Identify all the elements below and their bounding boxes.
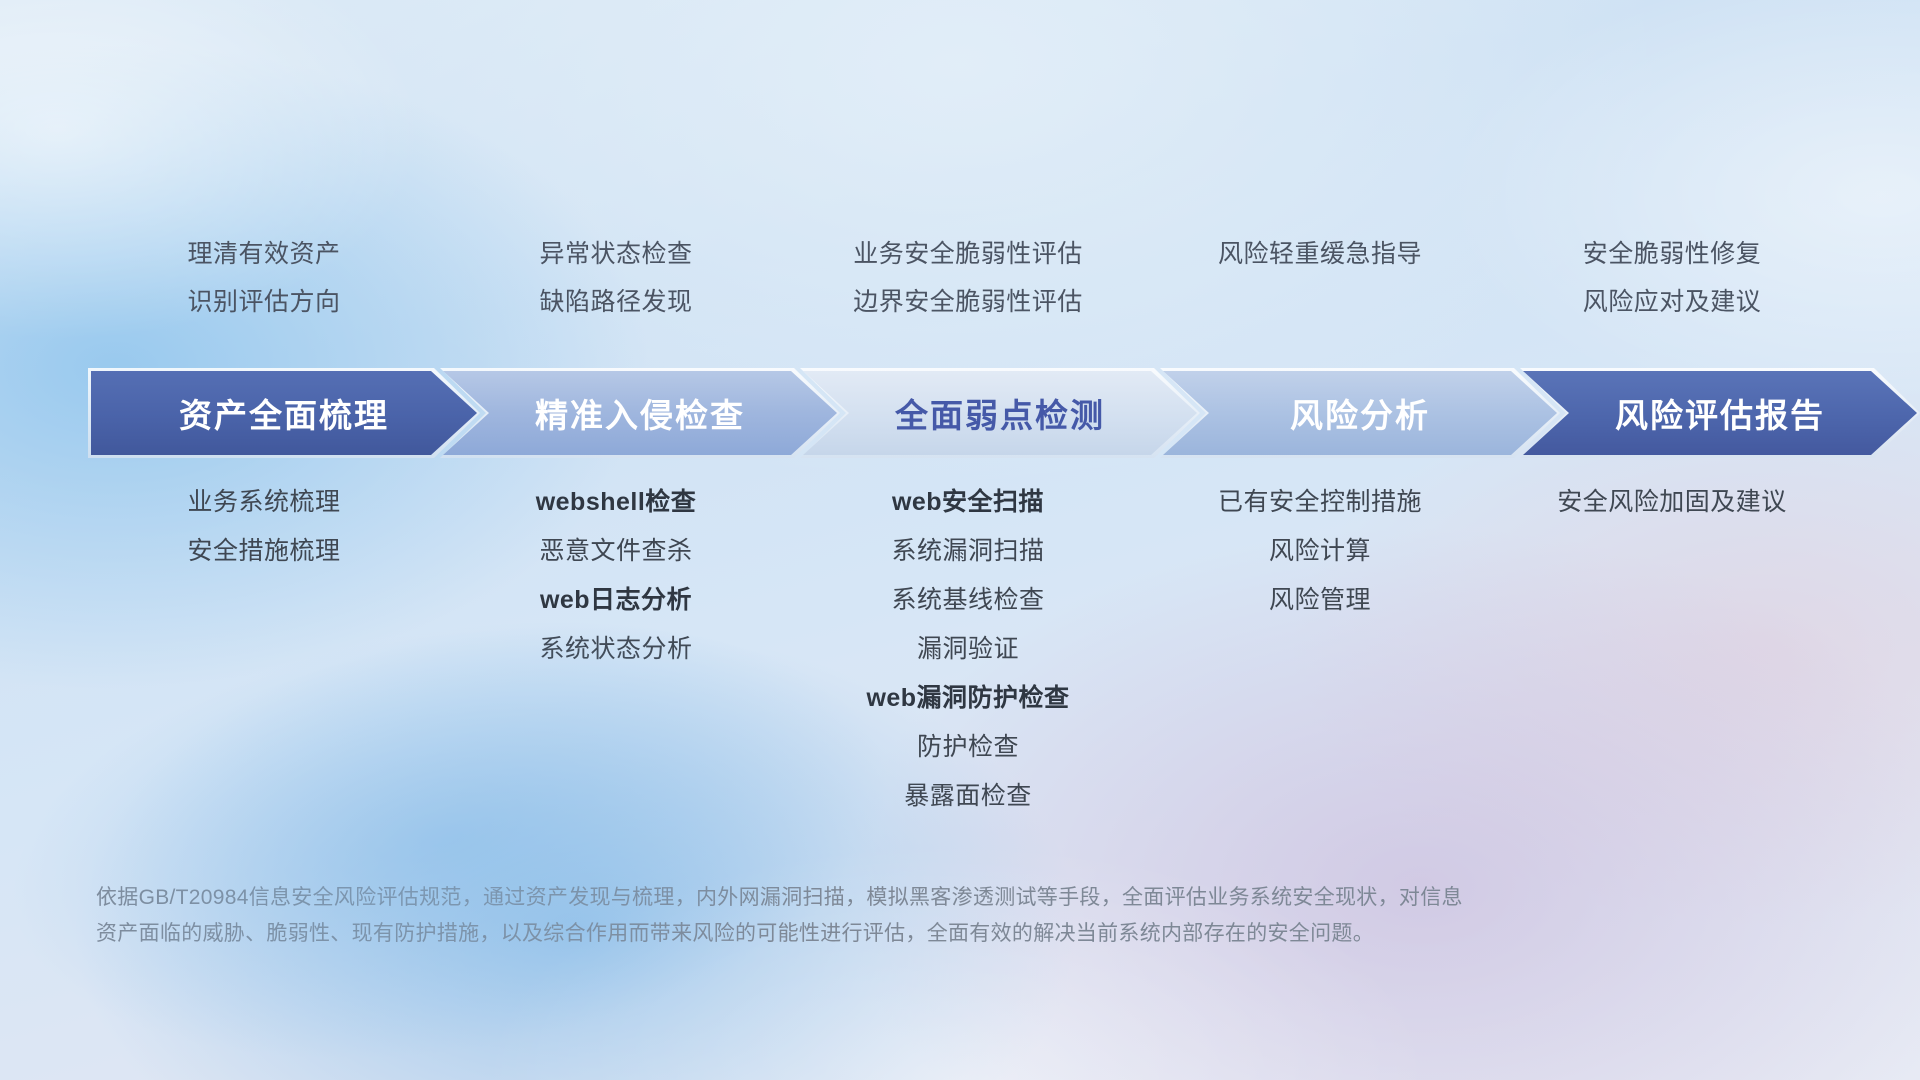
top-list-intrusion: 异常状态检查 缺陷路径发现: [440, 230, 792, 326]
top-list-report: 安全脆弱性修复 风险应对及建议: [1496, 230, 1848, 326]
bottom-item: 安全风险加固及建议: [1496, 478, 1848, 527]
bottom-list-intrusion: webshell检查 恶意文件查杀 web日志分析 系统状态分析: [440, 478, 792, 674]
footer-description: 依据GB/T20984信息安全风险评估规范，通过资产发现与梳理，内外网漏洞扫描，…: [96, 880, 1656, 952]
stage-chevron-risk-analysis[interactable]: 风险分析: [1160, 368, 1560, 458]
infographic-canvas: 理清有效资产 识别评估方向 业务系统梳理 安全措施梳理 异常状态检查 缺陷路径发…: [0, 0, 1920, 1080]
bottom-item: 已有安全控制措施: [1144, 478, 1496, 527]
bottom-list-report: 安全风险加固及建议: [1496, 478, 1848, 527]
top-item: 异常状态检查: [440, 230, 792, 278]
stage-chevron-intrusion[interactable]: 精准入侵检查: [440, 368, 840, 458]
bottom-item: web日志分析: [440, 576, 792, 625]
stage-label: 全面弱点检测: [895, 389, 1105, 437]
bottom-item: web漏洞防护检查: [792, 674, 1144, 723]
bottom-item: 防护检查: [792, 723, 1144, 772]
top-item: 风险应对及建议: [1496, 278, 1848, 326]
bottom-item: web安全扫描: [792, 478, 1144, 527]
footer-line-2: 资产面临的威胁、脆弱性、现有防护措施，以及综合作用而带来风险的可能性进行评估，全…: [96, 916, 1656, 952]
bottom-item: 系统漏洞扫描: [792, 527, 1144, 576]
top-list-risk-analysis: 风险轻重缓急指导: [1144, 230, 1496, 278]
bottom-item: webshell检查: [440, 478, 792, 527]
stage-chevron-weakness[interactable]: 全面弱点检测: [800, 368, 1200, 458]
stage-chevron-asset[interactable]: 资产全面梳理: [88, 368, 480, 458]
top-item: 风险轻重缓急指导: [1144, 230, 1496, 278]
bottom-list-weakness: web安全扫描 系统漏洞扫描 系统基线检查 漏洞验证 web漏洞防护检查 防护检…: [792, 478, 1144, 821]
bottom-list-risk-analysis: 已有安全控制措施 风险计算 风险管理: [1144, 478, 1496, 625]
top-item: 识别评估方向: [88, 278, 440, 326]
stage-chevron-report[interactable]: 风险评估报告: [1520, 368, 1920, 458]
top-list-weakness: 业务安全脆弱性评估 边界安全脆弱性评估: [792, 230, 1144, 326]
stage-label: 风险分析: [1290, 389, 1430, 437]
bottom-item: 风险管理: [1144, 576, 1496, 625]
footer-line-1: 依据GB/T20984信息安全风险评估规范，通过资产发现与梳理，内外网漏洞扫描，…: [96, 880, 1656, 916]
top-item: 边界安全脆弱性评估: [792, 278, 1144, 326]
bottom-item: 暴露面检查: [792, 772, 1144, 821]
top-item: 理清有效资产: [88, 230, 440, 278]
top-item: 缺陷路径发现: [440, 278, 792, 326]
stage-label: 精准入侵检查: [535, 389, 745, 437]
process-chevron-band: 资产全面梳理 精准入侵检查 全面弱点检测 风险分析 风险评估报告: [88, 368, 1864, 458]
top-item: 安全脆弱性修复: [1496, 230, 1848, 278]
bottom-item: 风险计算: [1144, 527, 1496, 576]
bottom-item: 业务系统梳理: [88, 478, 440, 527]
stage-label: 风险评估报告: [1615, 389, 1825, 437]
top-list-asset: 理清有效资产 识别评估方向: [88, 230, 440, 326]
top-item: 业务安全脆弱性评估: [792, 230, 1144, 278]
bottom-list-asset: 业务系统梳理 安全措施梳理: [88, 478, 440, 576]
bottom-item: 安全措施梳理: [88, 527, 440, 576]
bottom-item: 系统状态分析: [440, 625, 792, 674]
bottom-item: 系统基线检查: [792, 576, 1144, 625]
bottom-item: 漏洞验证: [792, 625, 1144, 674]
stage-label: 资产全面梳理: [179, 389, 389, 437]
bottom-item: 恶意文件查杀: [440, 527, 792, 576]
